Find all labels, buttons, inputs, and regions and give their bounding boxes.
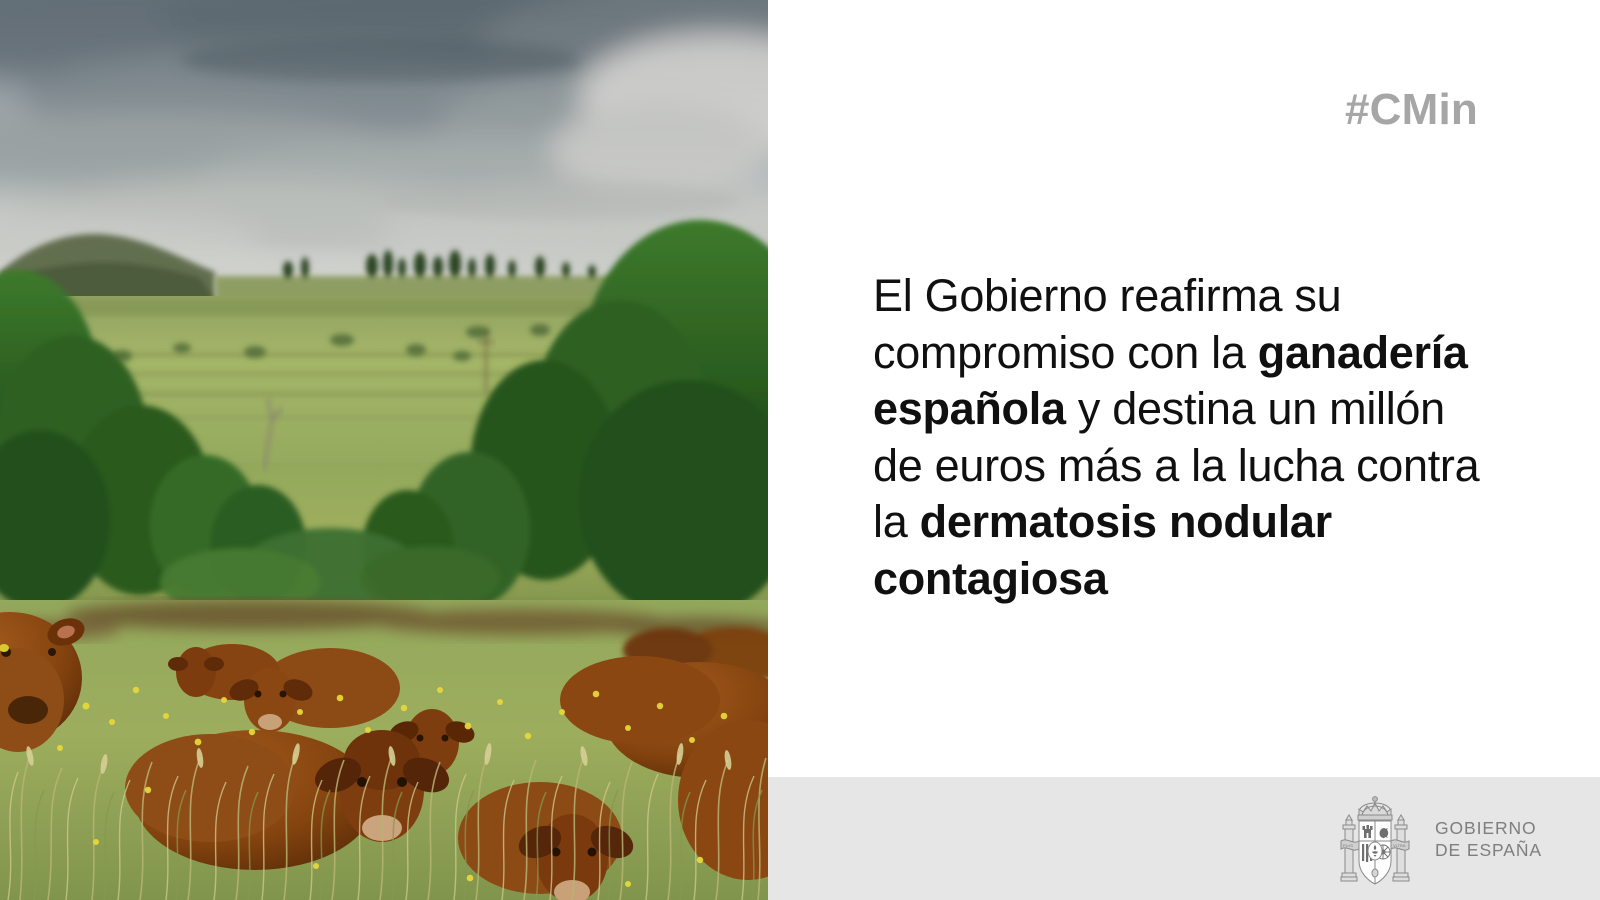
footer-bar: PLVS VLTRA GOBIERNO DE ESPAÑA [768,777,1600,900]
photo-illustration [0,0,768,900]
content-panel: #CMin El Gobierno reafirma su compromiso… [768,0,1600,900]
cattle-pasture-photo [0,0,768,900]
logo-text-line1: GOBIERNO [1435,817,1542,839]
hashtag-label: #CMin [1345,88,1478,132]
headline-segment-bold-2: dermatosis nodular contagiosa [873,496,1332,604]
spain-coat-of-arms-icon: PLVS VLTRA [1329,789,1421,889]
headline-text: El Gobierno reafirma su compromiso con l… [873,268,1493,607]
government-logo-text: GOBIERNO DE ESPAÑA [1435,817,1542,861]
logo-text-line2: DE ESPAÑA [1435,839,1542,861]
social-card: #CMin El Gobierno reafirma su compromiso… [0,0,1600,900]
government-logo: PLVS VLTRA GOBIERNO DE ESPAÑA [1329,789,1542,889]
svg-text:VLTRA: VLTRA [1393,843,1406,848]
svg-text:PLVS: PLVS [1343,843,1353,848]
